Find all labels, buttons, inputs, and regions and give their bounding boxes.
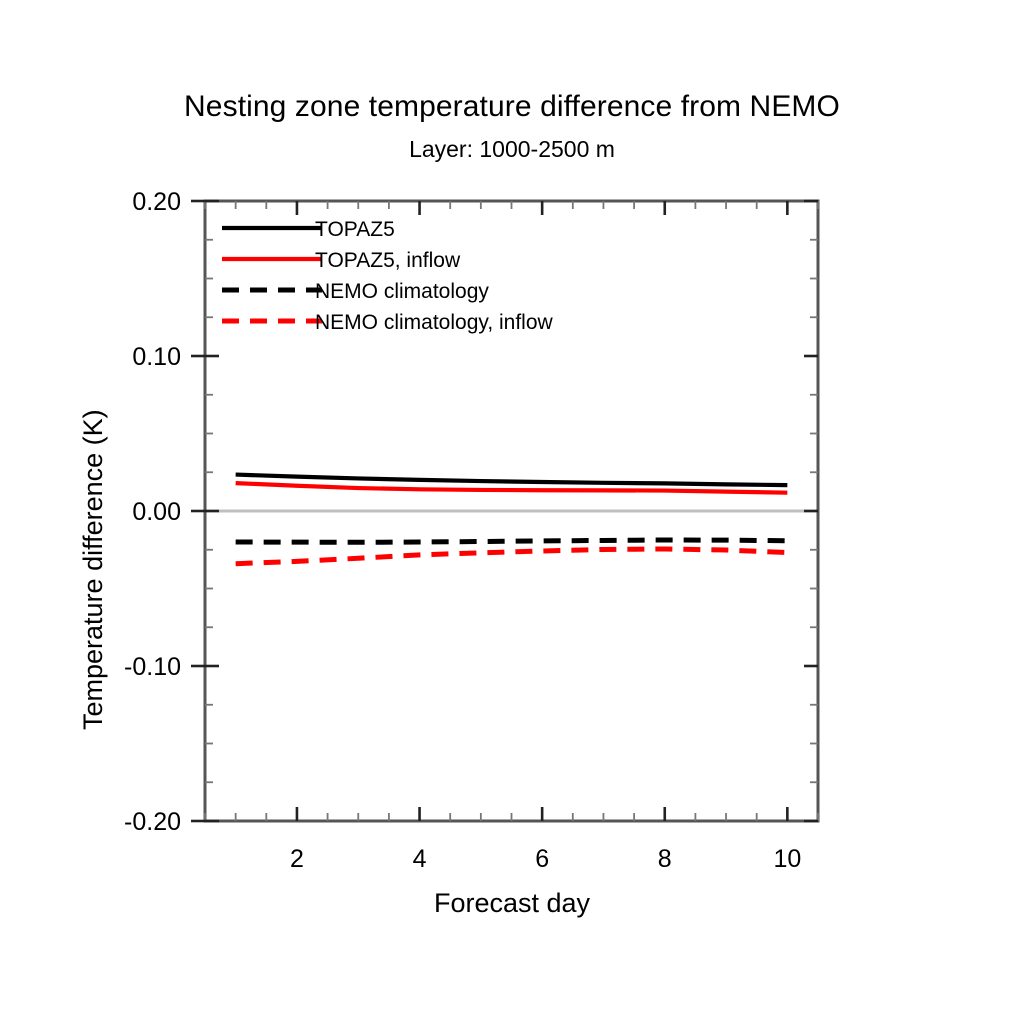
legend-label-2: NEMO climatology bbox=[315, 280, 489, 303]
legend-label-0: TOPAZ5 bbox=[315, 218, 395, 241]
x-tick-label: 4 bbox=[413, 845, 427, 873]
series-line-2 bbox=[236, 540, 788, 542]
y-tick-label: -0.10 bbox=[124, 653, 181, 681]
y-tick-label: -0.20 bbox=[124, 808, 181, 836]
chart-plot-area: 246810 0.200.100.00-0.10-0.20 TOPAZ5TOPA… bbox=[0, 0, 1024, 1024]
chart-legend: TOPAZ5TOPAZ5, inflowNEMO climatologyNEMO… bbox=[222, 218, 554, 334]
y-tick-label: 0.20 bbox=[132, 188, 181, 216]
x-tick-label: 8 bbox=[658, 845, 672, 873]
series-line-0 bbox=[236, 475, 788, 486]
y-axis-tick-labels: 0.200.100.00-0.10-0.20 bbox=[124, 188, 181, 836]
series-line-3 bbox=[236, 549, 788, 564]
x-tick-label: 6 bbox=[535, 845, 549, 873]
y-tick-label: 0.10 bbox=[132, 343, 181, 371]
y-tick-label: 0.00 bbox=[132, 498, 181, 526]
legend-label-1: TOPAZ5, inflow bbox=[315, 249, 461, 272]
x-axis-tick-labels: 246810 bbox=[290, 845, 801, 873]
legend-label-3: NEMO climatology, inflow bbox=[315, 311, 554, 334]
y-axis-label: Temperature difference (K) bbox=[78, 409, 109, 730]
x-axis-label: Forecast day bbox=[0, 888, 1024, 919]
x-tick-label: 10 bbox=[773, 845, 801, 873]
x-tick-label: 2 bbox=[290, 845, 304, 873]
data-series-group bbox=[236, 475, 788, 564]
